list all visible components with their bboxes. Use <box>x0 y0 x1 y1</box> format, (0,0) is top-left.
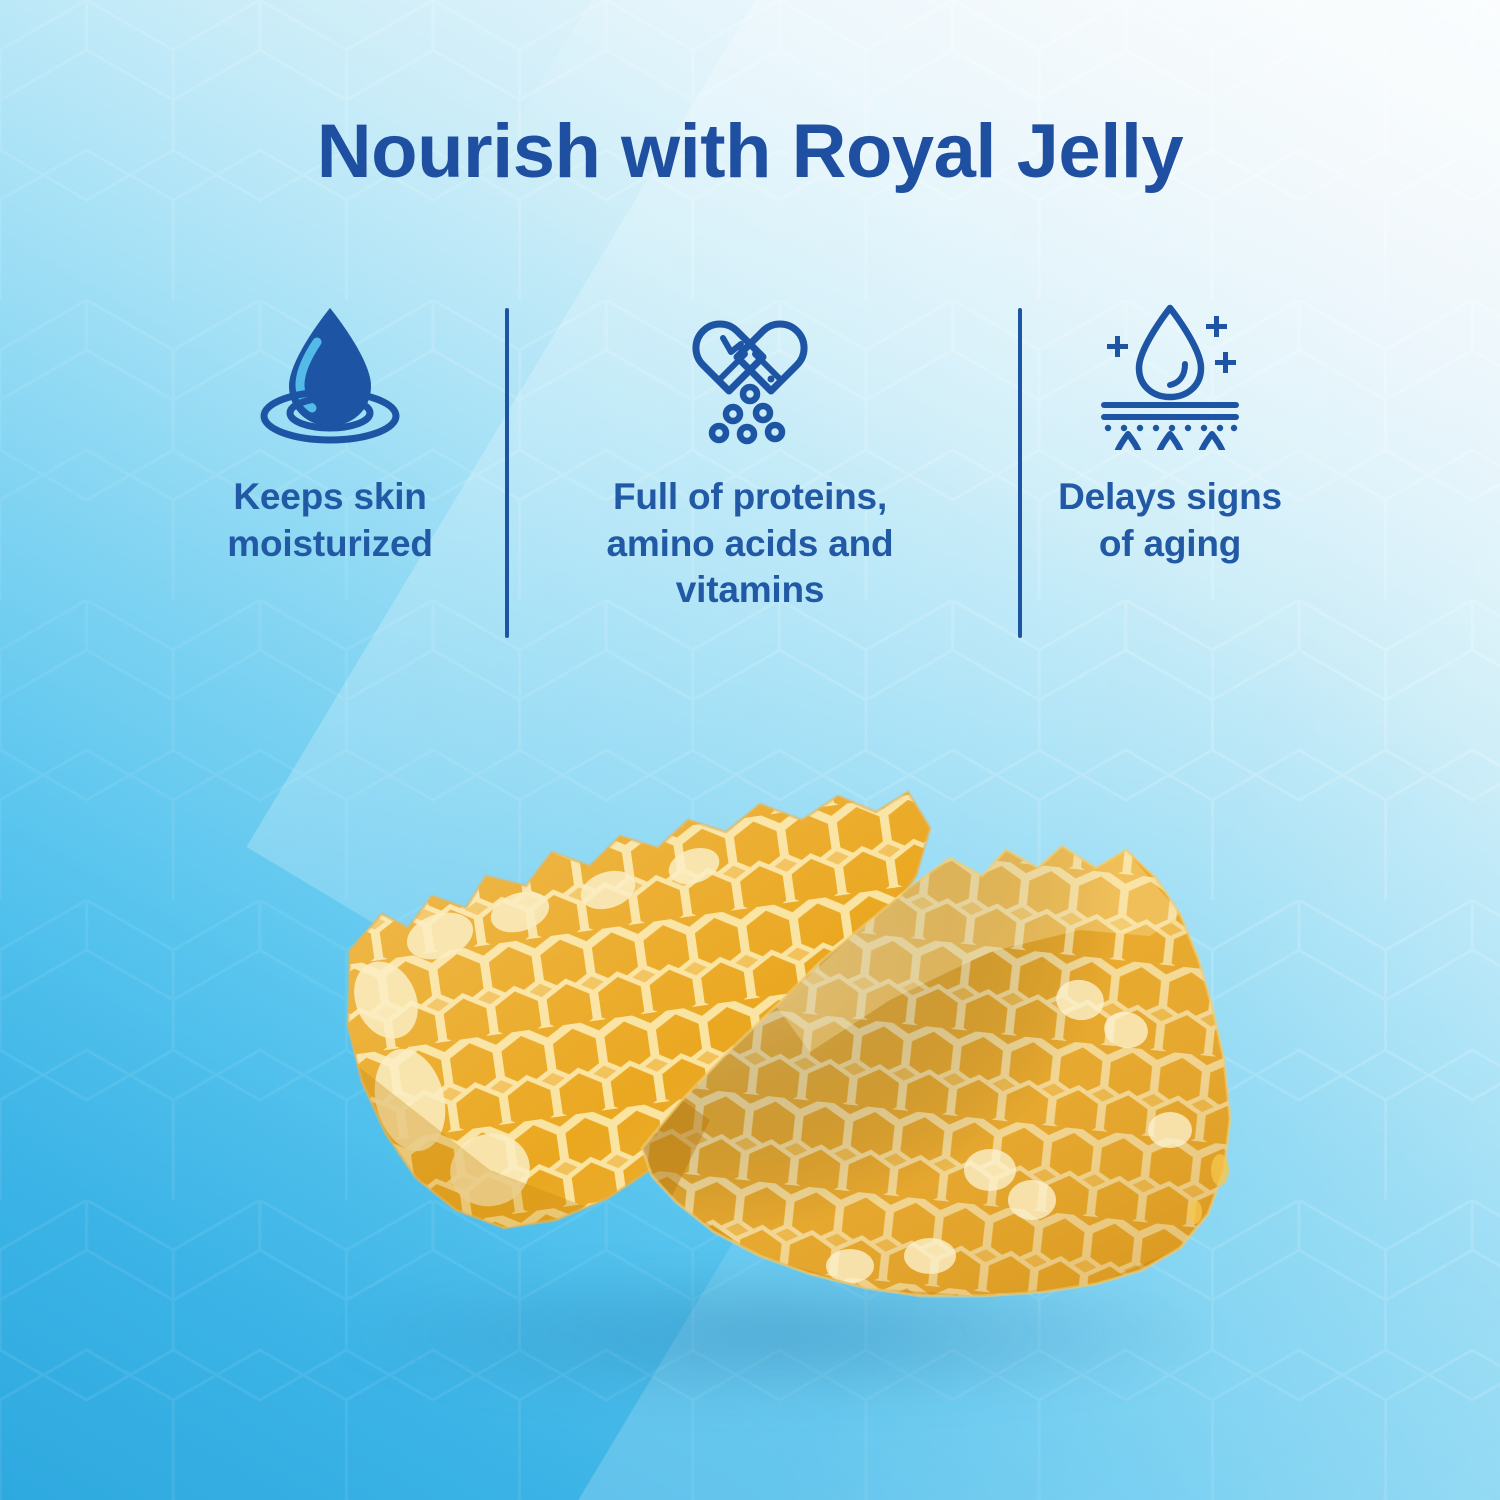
diagonal-facet-highlight-2 <box>681 0 1500 1500</box>
feature-item-moisturize: Keeps skin moisturized <box>120 300 540 567</box>
honeycomb-image <box>290 700 1290 1420</box>
diagonal-facet-highlight-1 <box>237 0 1500 1363</box>
feature-item-nutrients: Full of proteins, amino acids and vitami… <box>540 300 960 614</box>
honeycomb-shadow <box>330 1260 1230 1410</box>
caption-line: moisturized <box>227 521 432 568</box>
feature-caption: Delays signs of aging <box>1058 474 1282 567</box>
caption-line: Full of proteins, <box>607 474 894 521</box>
caption-line: of aging <box>1058 521 1282 568</box>
water-droplet-ripple-icon <box>255 300 405 450</box>
feature-list: Keeps skin moisturized <box>120 300 1380 650</box>
caption-line: vitamins <box>607 567 894 614</box>
diagonal-facet-highlight-3 <box>392 524 1500 1500</box>
caption-line: amino acids and <box>607 521 894 568</box>
feature-item-anti-aging: Delays signs of aging <box>960 300 1380 567</box>
feature-caption: Keeps skin moisturized <box>227 474 432 567</box>
droplet-skin-layer-sparkle-icon <box>1090 300 1250 450</box>
honeycomb-back-slab <box>290 700 1290 1420</box>
diagonal-facet-highlight-4 <box>246 0 1500 1310</box>
caption-line: Delays signs <box>1058 474 1282 521</box>
caption-line: Keeps skin <box>227 474 432 521</box>
hexagon-pattern-background <box>0 0 1500 1500</box>
feature-divider <box>505 308 509 638</box>
open-capsule-granules-icon <box>675 300 825 450</box>
feature-caption: Full of proteins, amino acids and vitami… <box>607 474 894 614</box>
page-title: Nourish with Royal Jelly <box>0 108 1500 195</box>
product-feature-banner: Nourish with Royal Jelly Keeps skin <box>0 0 1500 1500</box>
honeycomb-front-slab <box>290 700 1290 1420</box>
feature-divider <box>1018 308 1022 638</box>
